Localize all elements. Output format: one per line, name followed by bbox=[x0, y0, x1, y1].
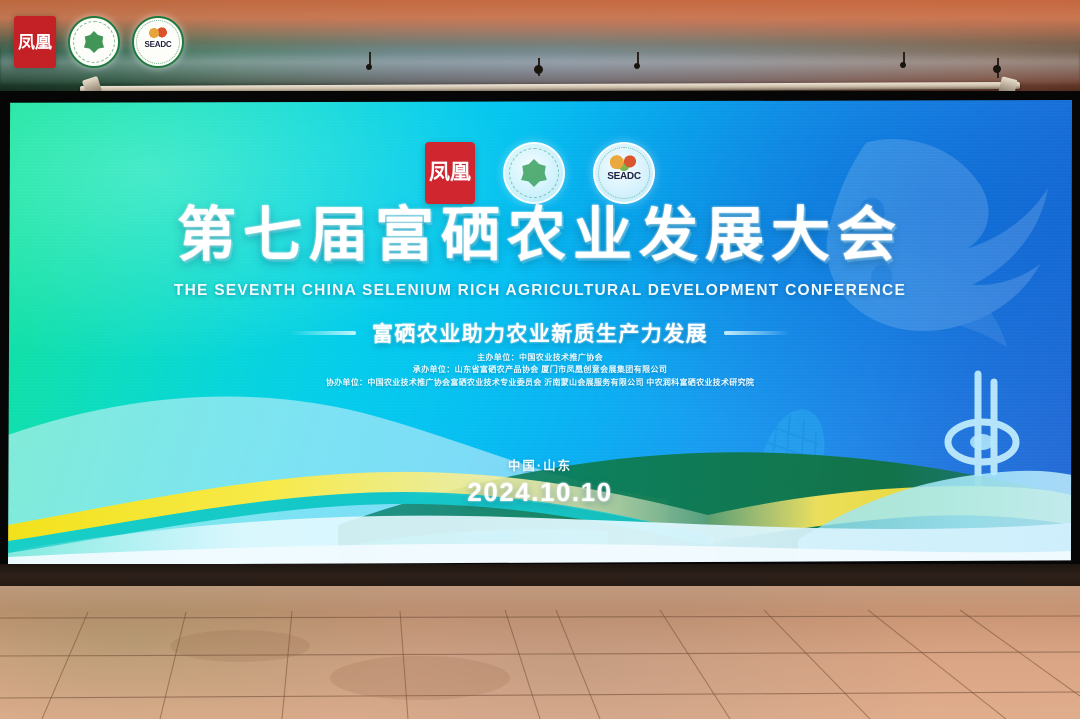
screen-logo-row: 凤凰 SEADC bbox=[8, 142, 1072, 204]
ceiling-spot-light bbox=[366, 64, 372, 70]
seadc-label: SEADC bbox=[144, 40, 171, 49]
organizer-block: 主办单位：中国农业技术推广协会 承办单位：山东省富硒农产品协会 厦门市凤凰创意会… bbox=[8, 352, 1072, 389]
ceiling-spot-light bbox=[634, 63, 640, 69]
conference-photo-scene: 凤凰 SEADC bbox=[0, 0, 1080, 719]
organizer-line-coorganizer: 协办单位：中国农业技术推广协会富硒农业技术专业委员会 沂南蒙山会展服务有限公司 … bbox=[8, 377, 1072, 389]
seadc-label: SEADC bbox=[607, 171, 641, 182]
event-place: 中国·山东 bbox=[8, 455, 1072, 474]
fruit-glyph bbox=[148, 27, 168, 39]
agri-association-emblem-icon bbox=[503, 142, 565, 204]
phoenix-seal-icon: 凤凰 bbox=[425, 142, 475, 204]
seadc-emblem-icon: SEADC bbox=[132, 16, 184, 68]
conference-title-cn: 第七届富硒农业发展大会 bbox=[8, 206, 1072, 265]
floor-sheen bbox=[0, 586, 1080, 612]
organizer-line-host: 主办单位：中国农业技术推广协会 bbox=[8, 352, 1072, 364]
subtitle-row: 富硒农业助力农业新质生产力发展 bbox=[8, 318, 1072, 348]
seadc-emblem-icon: SEADC bbox=[593, 142, 655, 204]
led-screen-frame: 凤凰 SEADC 第七届富硒农业发展大会 THE SEVENTH CHINA S… bbox=[0, 91, 1080, 575]
place-date-block: 中国·山东 2024.10.10 bbox=[8, 455, 1072, 508]
wheat-flower-glyph bbox=[83, 31, 105, 53]
wall-logo-strip: 凤凰 SEADC bbox=[14, 16, 184, 68]
led-screen: 凤凰 SEADC 第七届富硒农业发展大会 THE SEVENTH CHINA S… bbox=[8, 100, 1072, 565]
event-date: 2024.10.10 bbox=[8, 477, 1072, 508]
phoenix-seal-icon: 凤凰 bbox=[14, 16, 56, 68]
ceiling-spot-light bbox=[993, 65, 1001, 73]
conference-subtitle-cn: 富硒农业助力农业新质生产力发展 bbox=[372, 318, 708, 348]
fruit-glyph bbox=[609, 155, 639, 171]
subtitle-rule-left bbox=[290, 331, 356, 335]
wheat-flower-glyph bbox=[520, 159, 548, 187]
agri-association-emblem-icon bbox=[68, 16, 120, 68]
organizer-line-undertaker: 承办单位：山东省富硒农产品协会 厦门市凤凰创意会展集团有限公司 bbox=[8, 364, 1072, 376]
ceiling-spot-light bbox=[534, 65, 543, 74]
conference-title-en: THE SEVENTH CHINA SELENIUM RICH AGRICULT… bbox=[8, 282, 1072, 300]
ceiling-spot-light bbox=[900, 62, 906, 68]
hall-floor bbox=[0, 586, 1080, 719]
stage-baseboard bbox=[0, 564, 1080, 588]
subtitle-rule-right bbox=[724, 331, 790, 335]
